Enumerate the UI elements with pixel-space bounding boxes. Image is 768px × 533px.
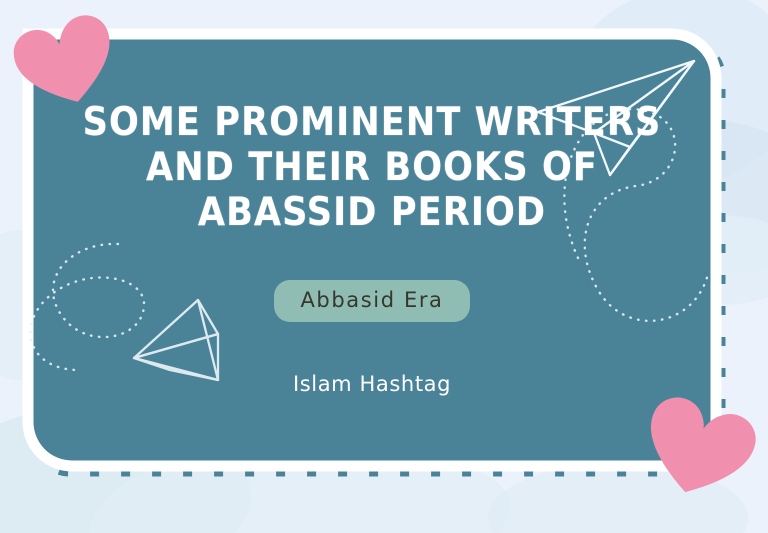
- badge-container: Abbasid Era: [274, 280, 469, 322]
- title-card: SOME PROMINENT WRITERSAND THEIR BOOKS OF…: [22, 28, 722, 472]
- title-line-1: SOME PROMINENT WRITERS: [83, 100, 662, 145]
- slide-title: SOME PROMINENT WRITERSAND THEIR BOOKS OF…: [83, 100, 662, 236]
- era-badge: Abbasid Era: [274, 280, 469, 322]
- card-content: SOME PROMINENT WRITERSAND THEIR BOOKS OF…: [22, 28, 722, 472]
- title-line-2: AND THEIR BOOKS OF: [146, 145, 598, 190]
- title-line-3: ABASSID PERIOD: [198, 190, 546, 235]
- title-slide: SOME PROMINENT WRITERSAND THEIR BOOKS OF…: [0, 0, 768, 533]
- author-name: Islam Hashtag: [293, 372, 451, 396]
